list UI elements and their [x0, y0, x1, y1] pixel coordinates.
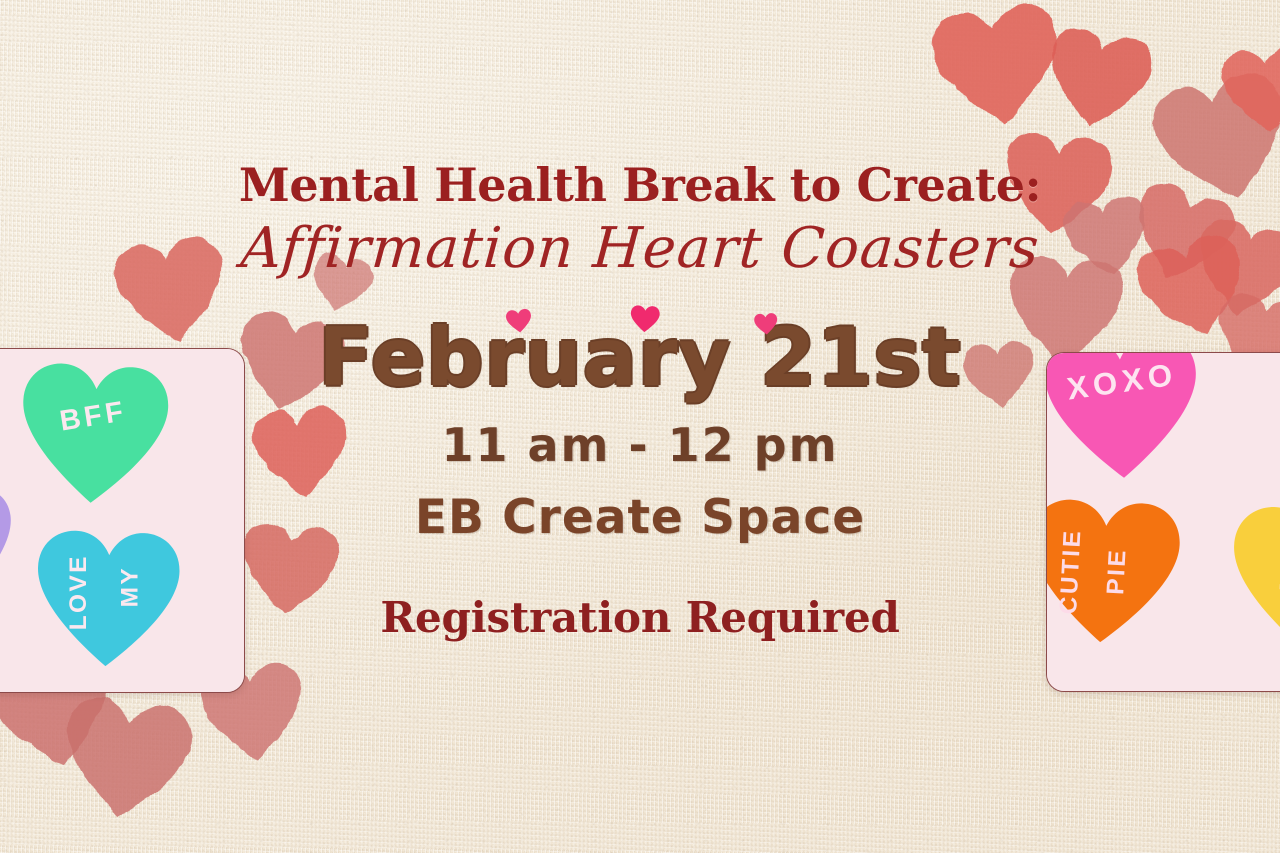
svg-text:LOVE: LOVE: [65, 554, 92, 630]
svg-text:CUTIE: CUTIE: [1055, 528, 1086, 615]
photo-right-candy-hearts: XOXO CUTIE PIE M: [1046, 352, 1280, 692]
event-flyer: G BFF LOVE MY XOXO: [0, 0, 1280, 853]
photo-left-candy-hearts: G BFF LOVE MY: [0, 348, 245, 693]
svg-text:PIE: PIE: [1102, 547, 1131, 595]
photo-left-candies: G BFF LOVE MY: [0, 349, 245, 693]
svg-text:M: M: [1274, 569, 1280, 592]
photo-right-candies: XOXO CUTIE PIE M: [1047, 353, 1280, 692]
svg-text:MY: MY: [116, 566, 143, 607]
